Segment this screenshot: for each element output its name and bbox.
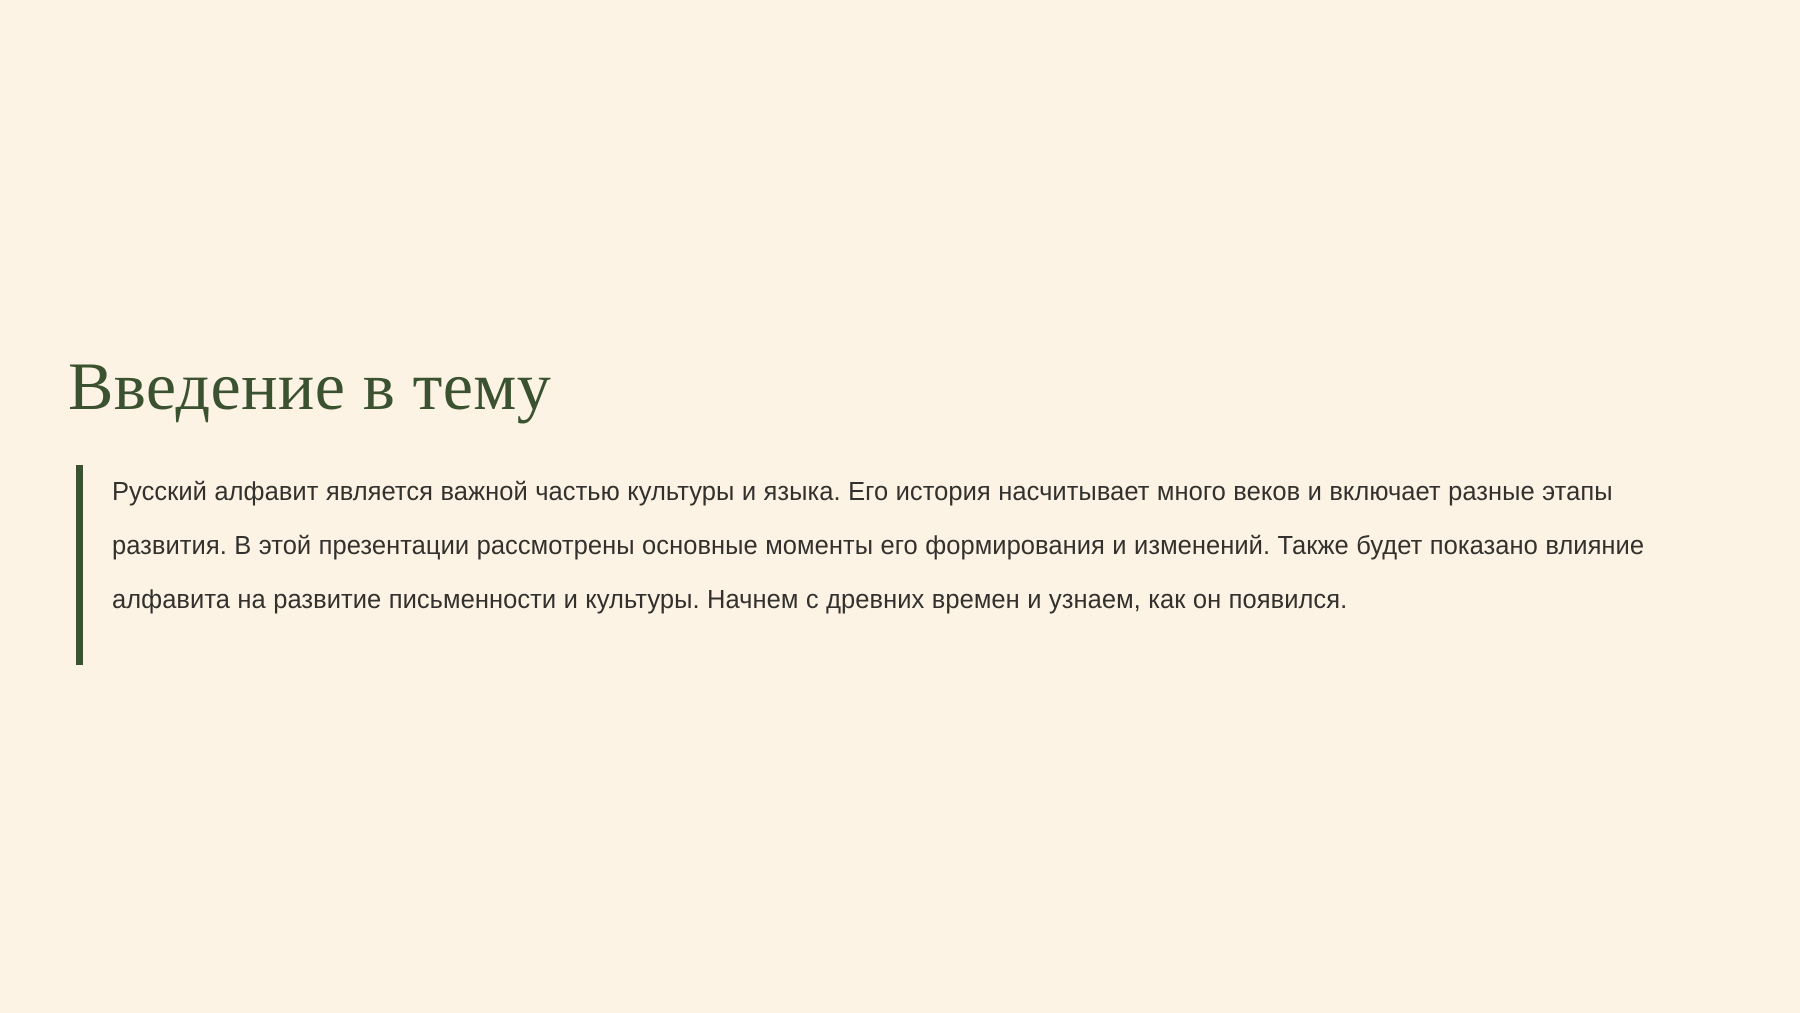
body-content-block: Русский алфавит является важной частью к… — [76, 465, 1724, 665]
presentation-slide: Введение в тему Русский алфавит является… — [0, 0, 1800, 1013]
page-title: Введение в тему — [68, 352, 551, 420]
body-paragraph: Русский алфавит является важной частью к… — [83, 465, 1724, 665]
left-accent-bar — [76, 465, 83, 665]
